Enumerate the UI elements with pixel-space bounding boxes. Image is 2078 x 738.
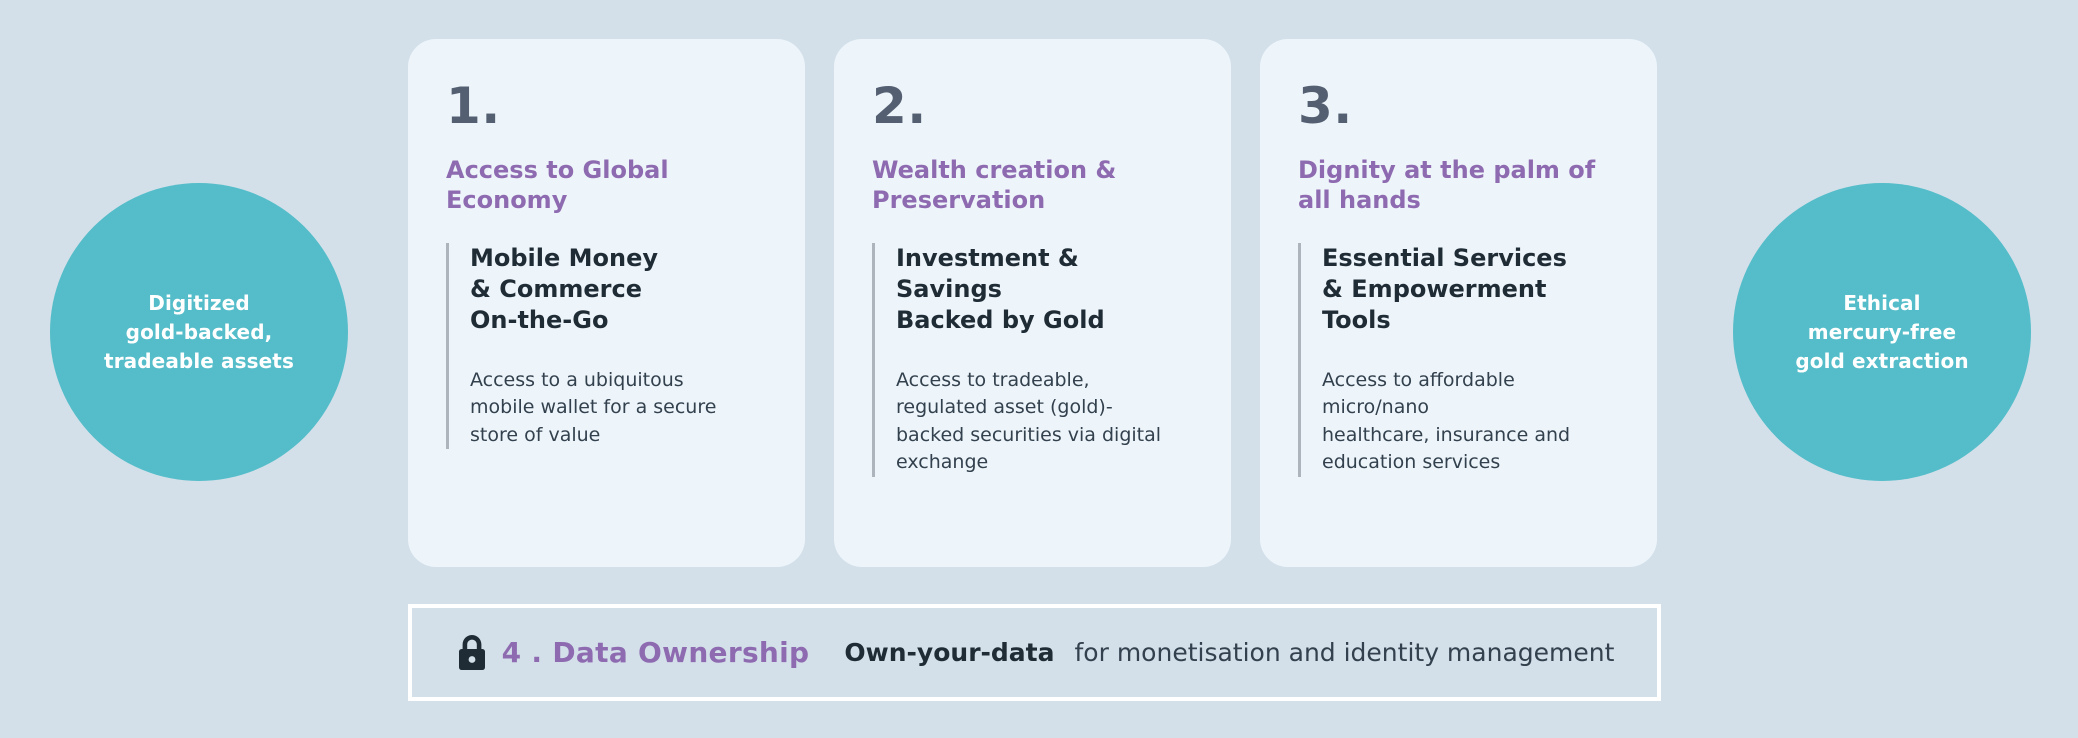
card-3-body: Essential Services & Empowerment Tools A…: [1298, 243, 1617, 477]
banner-rest-text: for monetisation and identity management: [1075, 638, 1615, 667]
data-ownership-banner: 4 . Data Ownership Own-your-data for mon…: [408, 604, 1661, 701]
card-1-subtitle: Mobile Money & Commerce On-the-Go: [470, 243, 765, 337]
card-1-body: Mobile Money & Commerce On-the-Go Access…: [446, 243, 765, 449]
card-2-body: Investment & Savings Backed by Gold Acce…: [872, 243, 1191, 477]
card-3-subtitle: Essential Services & Empowerment Tools: [1322, 243, 1617, 337]
card-3: 3. Dignity at the palm of all hands Esse…: [1260, 39, 1657, 567]
card-3-number: 3.: [1298, 81, 1617, 131]
card-1-description: Access to a ubiquitous mobile wallet for…: [470, 367, 765, 450]
left-circle-label: Digitized gold-backed, tradeable assets: [104, 289, 294, 376]
card-1-heading: Access to Global Economy: [446, 155, 765, 215]
card-3-description: Access to affordable micro/nano healthca…: [1322, 367, 1617, 477]
banner-strong-text: Own-your-data: [844, 638, 1054, 667]
card-2: 2. Wealth creation & Preservation Invest…: [834, 39, 1231, 567]
card-1-number: 1.: [446, 81, 765, 131]
card-2-subtitle: Investment & Savings Backed by Gold: [896, 243, 1191, 337]
card-1: 1. Access to Global Economy Mobile Money…: [408, 39, 805, 567]
card-3-heading: Dignity at the palm of all hands: [1298, 155, 1617, 215]
banner-number-label: 4 . Data Ownership: [502, 636, 810, 669]
card-2-number: 2.: [872, 81, 1191, 131]
infographic-canvas: Digitized gold-backed, tradeable assets …: [0, 0, 2078, 738]
card-2-description: Access to tradeable, regulated asset (go…: [896, 367, 1191, 477]
card-row: 1. Access to Global Economy Mobile Money…: [408, 39, 1657, 567]
lock-icon: [455, 633, 489, 673]
right-circle-label: Ethical mercury-free gold extraction: [1795, 289, 1968, 376]
left-circle-badge: Digitized gold-backed, tradeable assets: [50, 183, 348, 481]
right-circle-badge: Ethical mercury-free gold extraction: [1733, 183, 2031, 481]
card-2-heading: Wealth creation & Preservation: [872, 155, 1191, 215]
